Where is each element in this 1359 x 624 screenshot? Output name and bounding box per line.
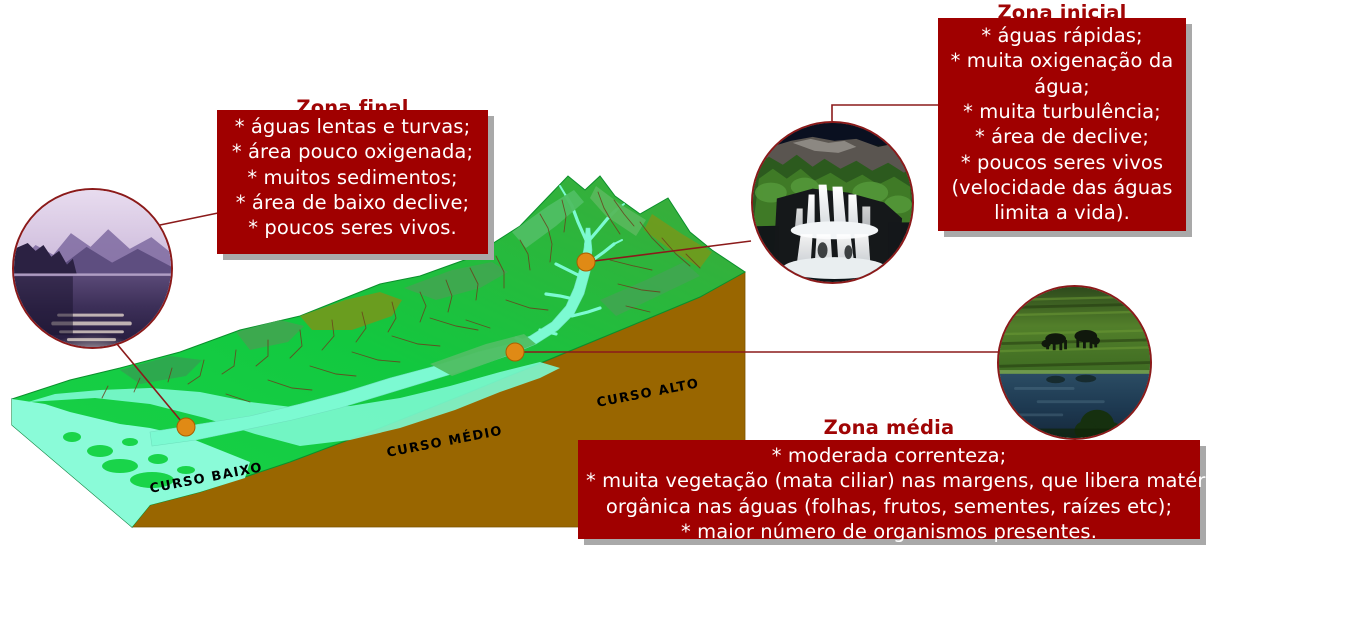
connector-waterfall-to-inicial (832, 105, 938, 121)
zona-final-line-1: * águas lentas e turvas; (225, 114, 480, 139)
zona-final-line-4: * área de baixo declive; (225, 190, 480, 215)
marker-middle-course (506, 343, 524, 361)
zona-inicial-line-5: * área de declive; (946, 124, 1178, 149)
connector-lake-to-final (160, 213, 218, 225)
marker-high-course (577, 253, 595, 271)
marker-low-course (177, 418, 195, 436)
zona-inicial-line-7: (velocidade das águas (946, 175, 1178, 200)
zona-inicial-line-2: * muita oxigenação da (946, 48, 1178, 73)
zona-media-line-3: orgânica nas águas (folhas, frutos, seme… (586, 494, 1192, 519)
waterfall-photo (751, 121, 914, 284)
zona-inicial-line-4: * muita turbulência; (946, 99, 1178, 124)
lake-at-dusk-photo (12, 188, 173, 349)
zona-media-line-1: * moderada correnteza; (586, 443, 1192, 468)
zona-media-title: Zona média (578, 416, 1200, 439)
zona-inicial-line-3: água; (946, 74, 1178, 99)
zona-inicial-line-6: * poucos seres vivos (946, 150, 1178, 175)
zona-media-box: * moderada correnteza; * muita vegetação… (578, 440, 1200, 539)
zona-inicial-line-8: limita a vida). (946, 200, 1178, 225)
diagram-canvas: CURSO BAIXO CURSO MÉDIO CURSO ALTO (0, 0, 1359, 624)
zona-inicial-line-1: * águas rápidas; (946, 23, 1178, 48)
connector-lake-to-marker (112, 338, 186, 427)
zona-final-line-3: * muitos sedimentos; (225, 165, 480, 190)
zona-final-line-5: * poucos seres vivos. (225, 215, 480, 240)
zona-final-line-2: * área pouco oxigenada; (225, 139, 480, 164)
zona-media-line-4: * maior número de organismos presentes. (586, 519, 1192, 544)
connector-waterfall-to-marker (586, 241, 751, 262)
zona-inicial-box: * águas rápidas; * muita oxigenação da á… (938, 18, 1186, 231)
zona-final-box: * águas lentas e turvas; * área pouco ox… (217, 110, 488, 254)
zona-media-line-2: * muita vegetação (mata ciliar) nas marg… (586, 468, 1192, 493)
